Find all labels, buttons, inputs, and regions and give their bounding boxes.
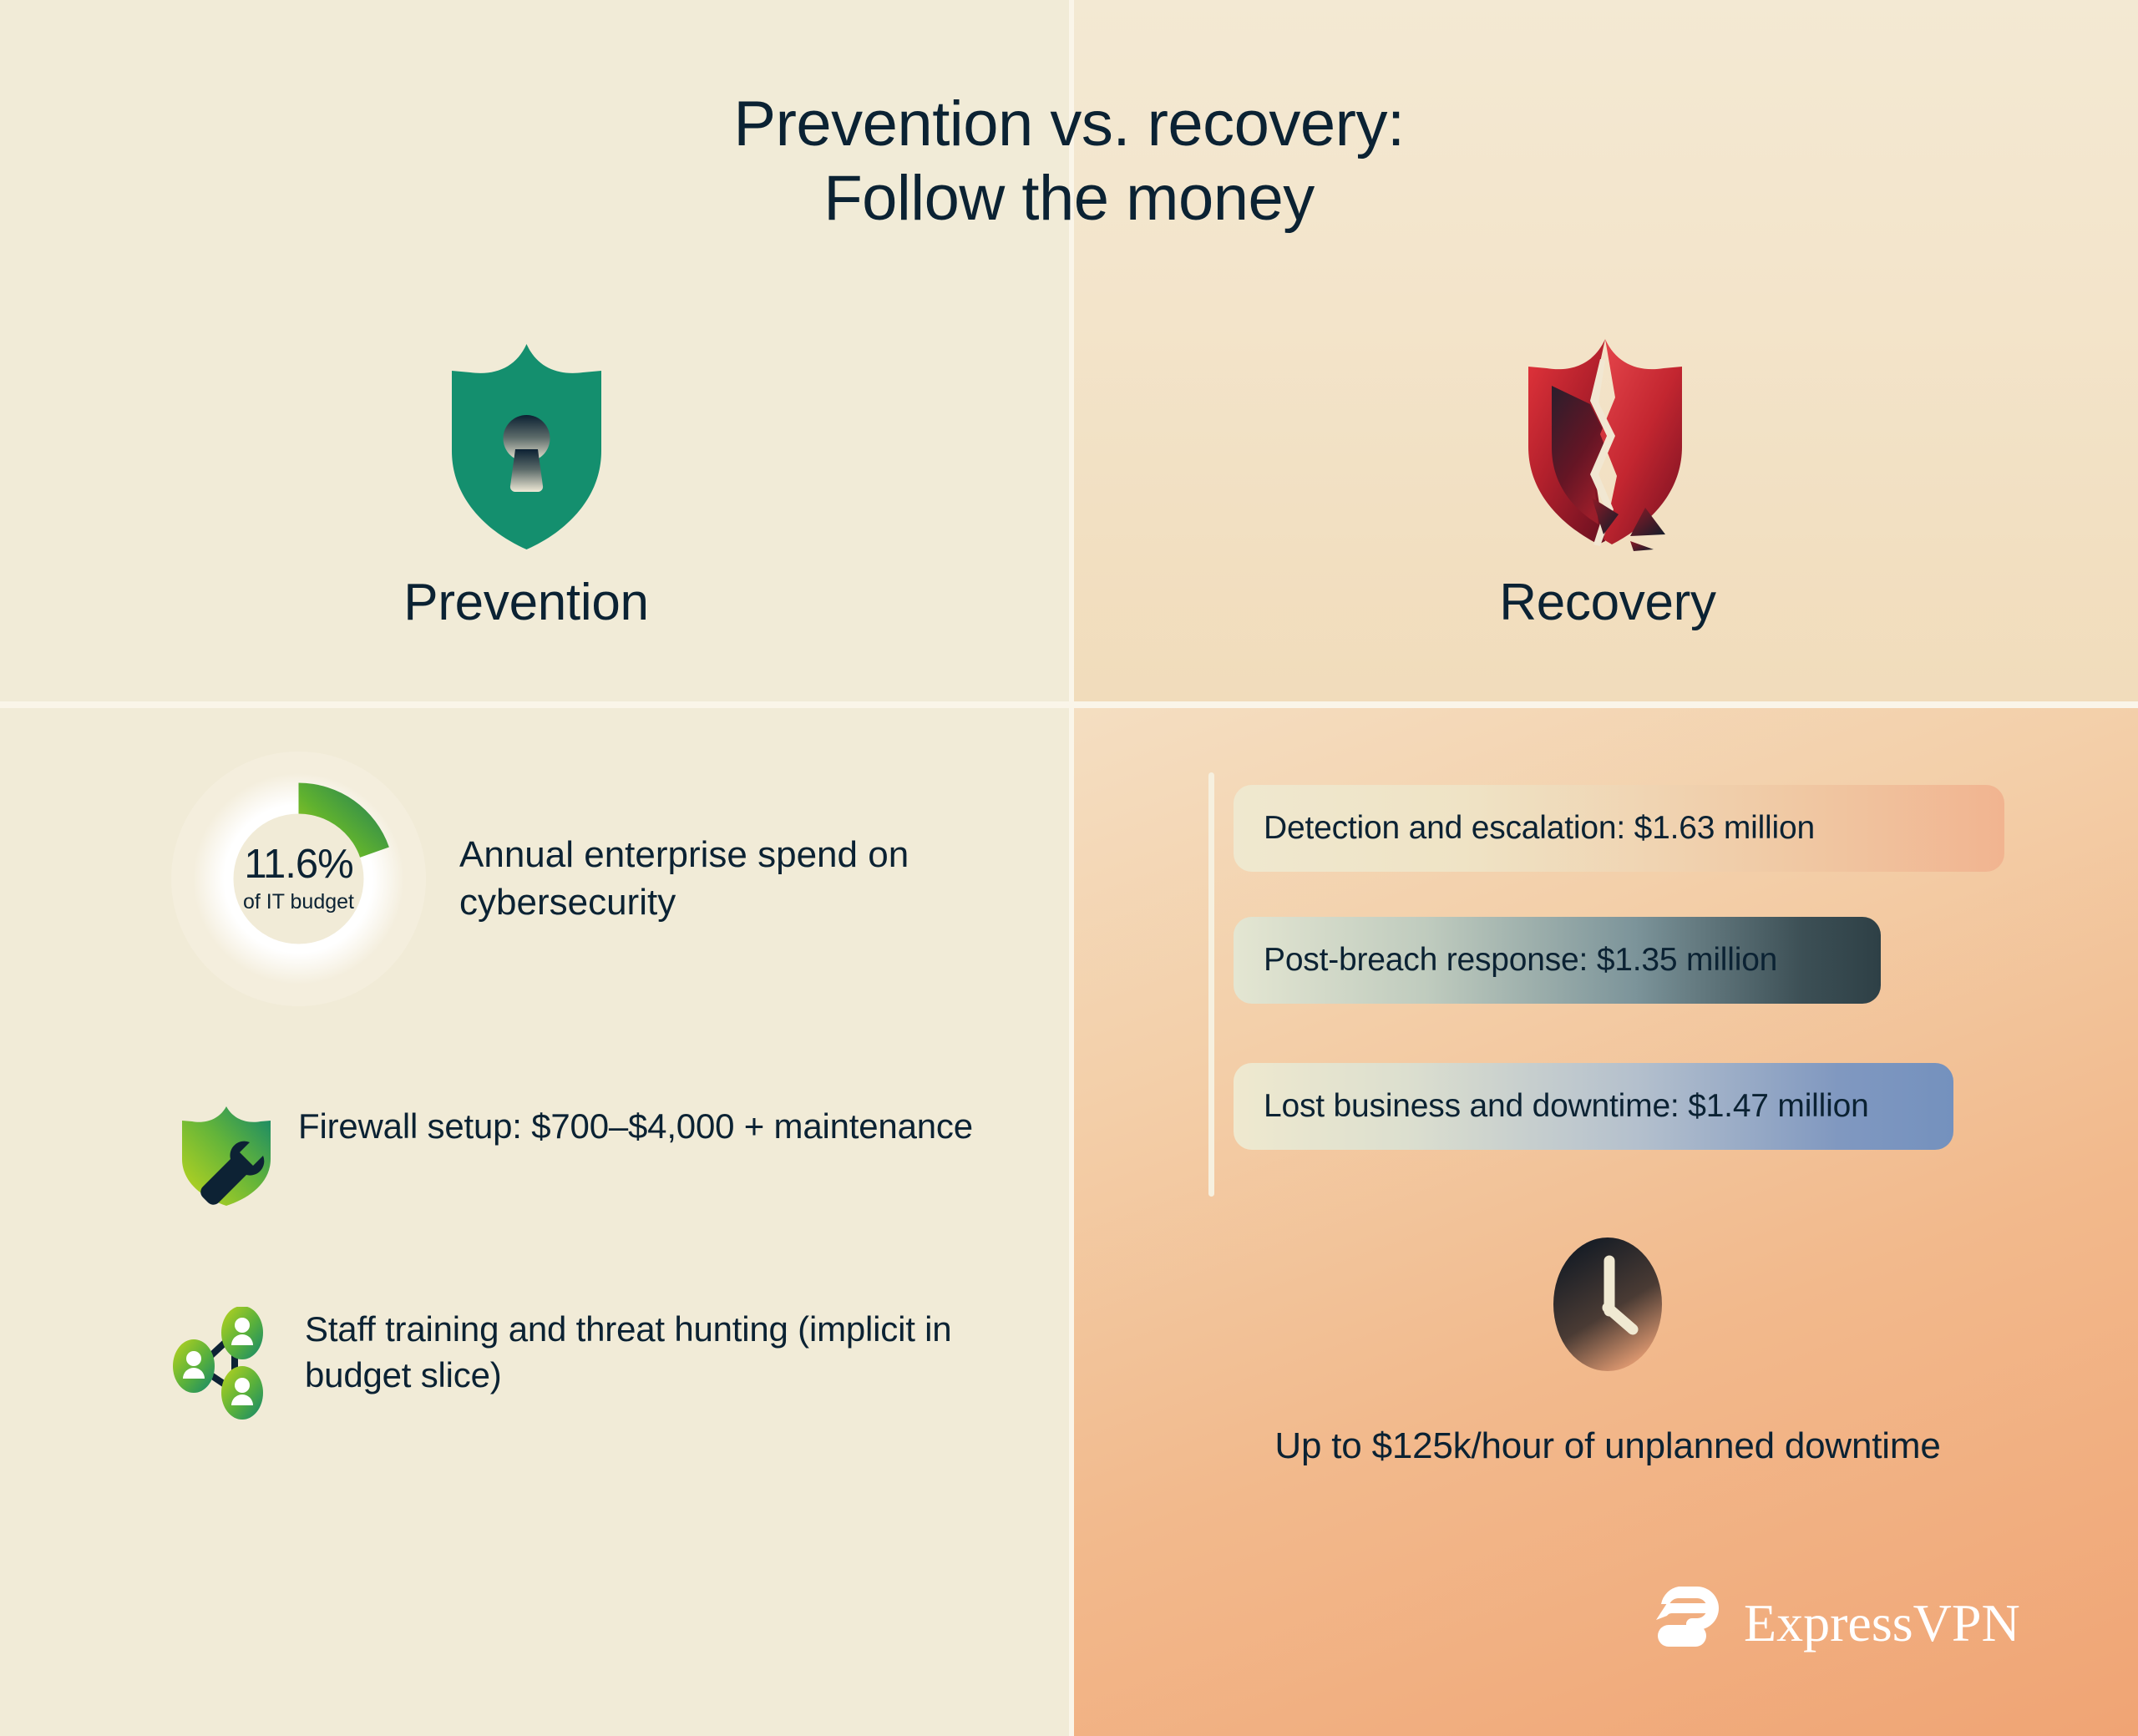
downtime-text: Up to $125k/hour of unplanned downtime xyxy=(1211,1422,2004,1470)
expressvpn-e-mark-icon xyxy=(1654,1585,1722,1661)
donut-percent: 11.6% xyxy=(215,844,383,885)
donut-sublabel: of IT budget xyxy=(215,890,383,914)
fact-staff-text: Staff training and threat hunting (impli… xyxy=(305,1307,1040,1398)
bar-post-breach-response-label: Post-breach response: $1.35 million xyxy=(1264,942,1777,979)
title-line-1: Prevention vs. recovery: xyxy=(733,89,1404,159)
bar-lost-business-downtime-label: Lost business and downtime: $1.47 millio… xyxy=(1264,1088,1869,1125)
prevention-label: Prevention xyxy=(225,573,827,632)
shield-keyhole-icon xyxy=(225,334,827,551)
page-title: Prevention vs. recovery: Follow the mone… xyxy=(0,88,2138,236)
bar-detection-escalation-label: Detection and escalation: $1.63 million xyxy=(1264,810,1815,847)
it-budget-donut-chart: 11.6% of IT budget xyxy=(171,752,426,1006)
bar-detection-escalation: Detection and escalation: $1.63 million xyxy=(1234,785,2004,872)
recovery-label: Recovery xyxy=(1286,573,1929,632)
bar-lost-business-downtime: Lost business and downtime: $1.47 millio… xyxy=(1234,1063,1953,1150)
infographic-canvas: Prevention vs. recovery: Follow the mone… xyxy=(0,0,2138,1736)
expressvpn-wordmark: ExpressVPN xyxy=(1744,1592,2020,1654)
horizontal-divider xyxy=(0,701,2138,708)
broken-shield-icon xyxy=(1286,334,1929,551)
cybersecurity-spend-stat: 11.6% of IT budget Annual enterprise spe… xyxy=(171,752,1006,1006)
bar-post-breach-response: Post-breach response: $1.35 million xyxy=(1234,917,1881,1004)
prevention-header-block: Prevention xyxy=(225,334,827,632)
shield-wrench-icon xyxy=(180,1104,273,1210)
vertical-divider xyxy=(1069,0,1074,1736)
clock-icon xyxy=(1211,1236,2004,1382)
donut-center-label: 11.6% of IT budget xyxy=(215,844,383,914)
downtime-stat: Up to $125k/hour of unplanned downtime xyxy=(1211,1236,2004,1470)
donut-description: Annual enterprise spend on cybersecurity xyxy=(459,832,927,926)
title-line-2: Follow the money xyxy=(0,162,2138,236)
bar-chart-axis xyxy=(1208,772,1214,1197)
fact-firewall-text: Firewall setup: $700–$4,000 + maintenanc… xyxy=(298,1104,973,1150)
fact-firewall: Firewall setup: $700–$4,000 + maintenanc… xyxy=(180,1104,1023,1210)
network-people-icon xyxy=(171,1307,280,1424)
fact-staff-training: Staff training and threat hunting (impli… xyxy=(171,1307,1040,1424)
recovery-header-block: Recovery xyxy=(1286,334,1929,632)
expressvpn-logo: ExpressVPN xyxy=(1654,1585,2020,1661)
